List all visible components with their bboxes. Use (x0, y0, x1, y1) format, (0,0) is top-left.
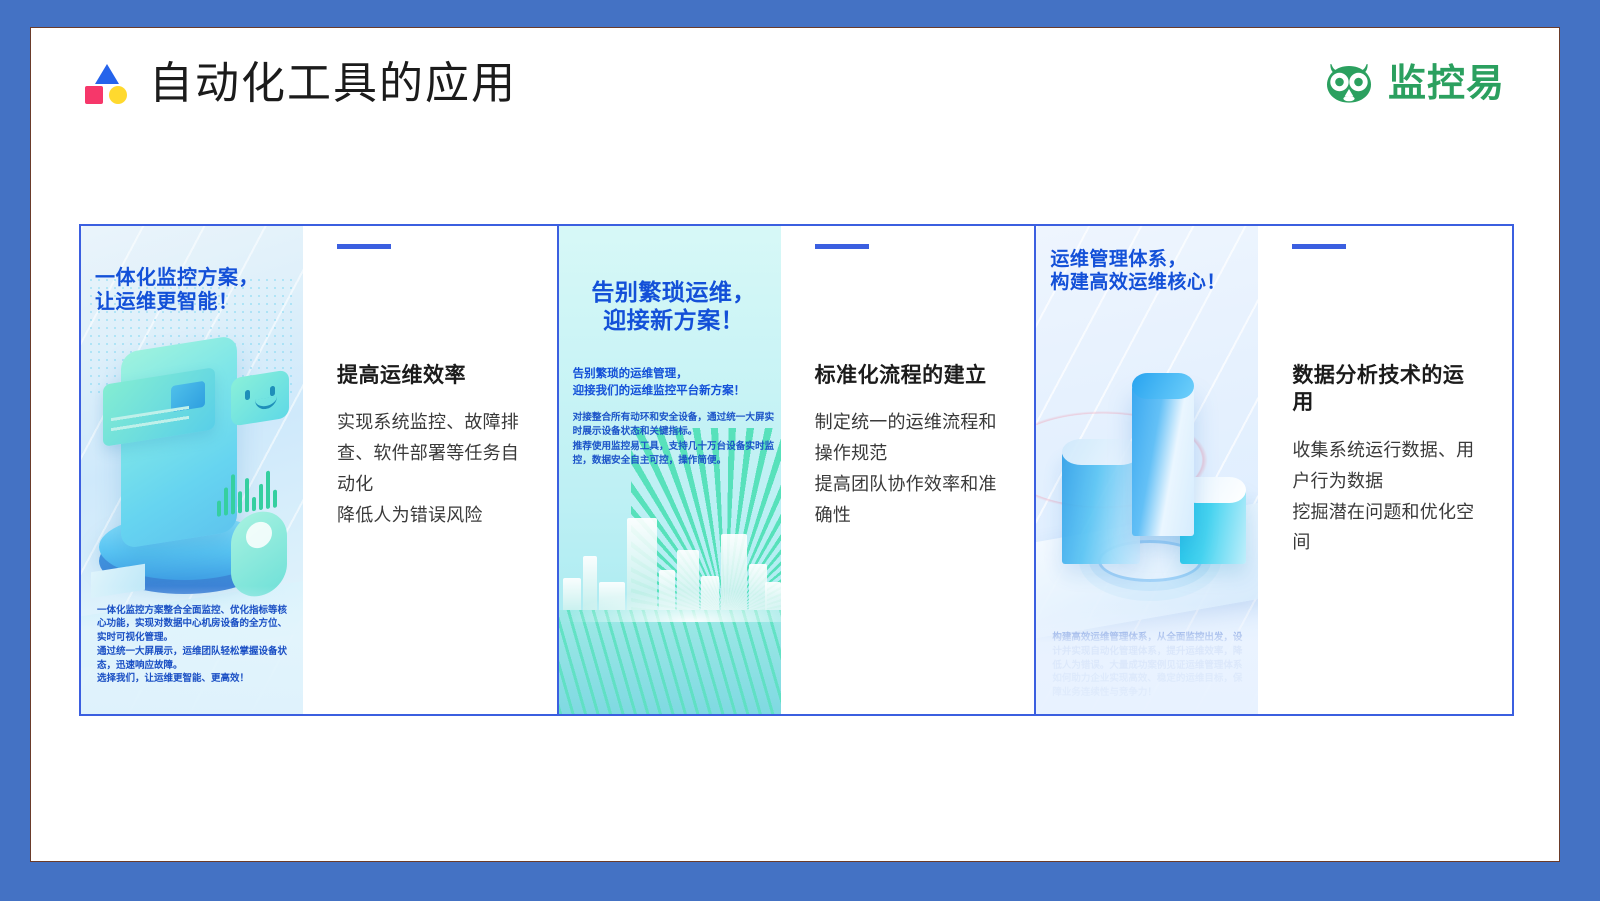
poster-3-fade-overlay (1036, 604, 1258, 714)
panel-3-title: 数据分析技术的运用 (1292, 361, 1482, 416)
triangle-shape (95, 64, 119, 84)
poster-2-glow-decor (559, 588, 781, 622)
circle-shape (109, 86, 127, 104)
panel-2-title: 标准化流程的建立 (815, 361, 1005, 388)
slide-canvas: 自动化工具的应用 监控易 (30, 27, 1560, 862)
poster-1-device-decor (121, 335, 237, 549)
brand-logo: 监控易 (1320, 60, 1505, 106)
card-3[interactable]: 运维管理体系， 构建高效运维核心！ 构建高效运维管理体系，从全面监控出发，设计并… (1034, 226, 1512, 714)
panel-2-rule (815, 244, 869, 249)
slide-outer-frame: 自动化工具的应用 监控易 (0, 0, 1600, 901)
poster-3-heading: 运维管理体系， 构建高效运维核心！ (1050, 248, 1252, 294)
panel-1-body: 实现系统监控、故障排查、软件部署等任务自动化 降低人为错误风险 (337, 408, 527, 532)
poster-1-heading: 一体化监控方案， 让运维更智能！ (95, 266, 297, 315)
brand-name: 监控易 (1388, 64, 1505, 102)
poster-1-footer-cta: 选择我们，让运维更智能、更高效！ (97, 672, 295, 686)
poster-1-footer-body: 一体化监控方案整合全面监控、优化指标等核心功能，实现对数据中心机房设备的全方位、… (97, 605, 287, 671)
page-title: 自动化工具的应用 (149, 60, 517, 108)
panel-1-rule (337, 244, 391, 249)
poster-2-heading: 告别繁琐运维， 迎接新方案！ (573, 278, 775, 334)
panel-2: 标准化流程的建立 制定统一的运维流程和操作规范 提高团队协作效率和准确性 (781, 226, 1035, 714)
owl-icon (1320, 60, 1378, 106)
poster-2-subheading: 告别繁琐的运维管理， 迎接我们的运维监控平台新方案！ (573, 366, 773, 399)
poster-2-body: 对接整合所有动环和安全设备，通过统一大屏实时展示设备状态和关键指标。 推荐使用监… (573, 411, 775, 469)
panel-3-rule (1292, 244, 1346, 249)
panel-1: 提高运维效率 实现系统监控、故障排查、软件部署等任务自动化 降低人为错误风险 (303, 226, 557, 714)
panel-3-body: 收集系统运行数据、用户行为数据 挖掘潜在问题和优化空间 (1292, 436, 1482, 560)
card-1[interactable]: 一体化监控方案， 让运维更智能！ 一体化监控方案整合全面监控、优化指标等核心功能… (81, 226, 557, 714)
poster-1-waveform-decor (217, 459, 279, 517)
poster-image-2: 告别繁琐运维， 迎接新方案！ 告别繁琐的运维管理， 迎接我们的运维监控平台新方案… (559, 226, 781, 714)
triangle-square-circle-icon (83, 62, 131, 106)
title-block: 自动化工具的应用 (83, 60, 517, 108)
slide-header: 自动化工具的应用 监控易 (31, 28, 1560, 148)
panel-3: 数据分析技术的运用 收集系统运行数据、用户行为数据 挖掘潜在问题和优化空间 (1258, 226, 1512, 714)
poster-3-tower-mid-decor (1062, 452, 1140, 564)
poster-image-3: 运维管理体系， 构建高效运维核心！ 构建高效运维管理体系，从全面监控出发，设计并… (1036, 226, 1258, 714)
poster-1-footer: 一体化监控方案整合全面监控、优化指标等核心功能，实现对数据中心机房设备的全方位、… (97, 590, 295, 700)
poster-image-1: 一体化监控方案， 让运维更智能！ 一体化监控方案整合全面监控、优化指标等核心功能… (81, 226, 303, 714)
panel-2-body: 制定统一的运维流程和操作规范 提高团队协作效率和准确性 (815, 408, 1005, 532)
panel-1-title: 提高运维效率 (337, 361, 527, 388)
poster-2-ground-decor (559, 610, 781, 714)
cards-container: 一体化监控方案， 让运维更智能！ 一体化监控方案整合全面监控、优化指标等核心功能… (79, 224, 1514, 716)
poster-3-tower-tall-decor (1132, 386, 1194, 536)
card-2[interactable]: 告别繁琐运维， 迎接新方案！ 告别繁琐的运维管理， 迎接我们的运维监控平台新方案… (557, 226, 1035, 714)
square-shape (85, 86, 103, 104)
